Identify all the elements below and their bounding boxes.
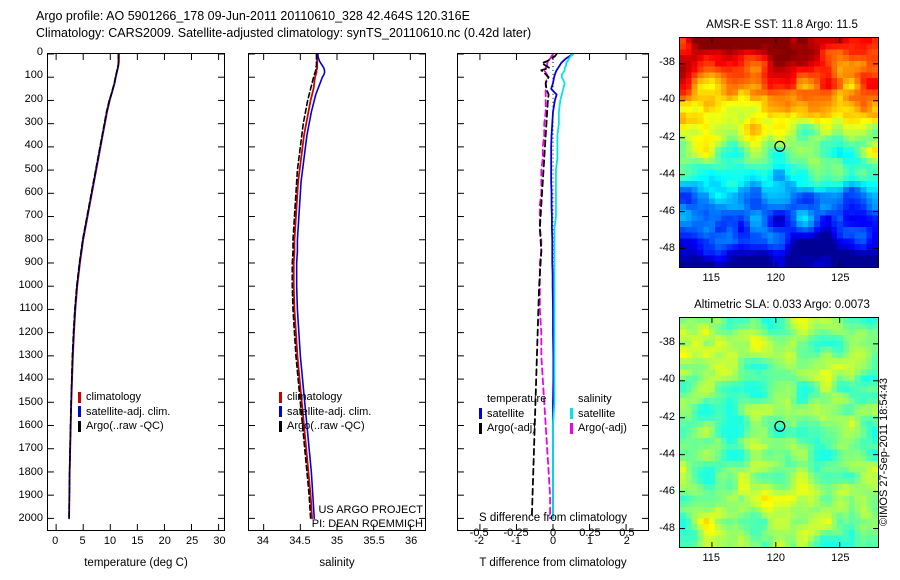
sla-map[interactable] xyxy=(679,317,879,548)
depth-tick-label: 600 xyxy=(0,187,43,198)
project-credit-line-1: US ARGO PROJECT xyxy=(280,503,423,517)
figure-title-line-2: Climatology: CARS2009. Satellite-adjuste… xyxy=(36,26,531,40)
legend-item: satellite xyxy=(479,407,546,422)
project-credit-line-2: PI: DEAN ROEMMICH xyxy=(280,517,423,531)
difference-curves xyxy=(532,54,574,530)
depth-tick-label: 1900 xyxy=(0,490,43,501)
depth-tick-label: 1800 xyxy=(0,467,43,478)
legend-label: climatology xyxy=(86,390,141,405)
legend-swatch-satellite xyxy=(479,408,482,419)
legend-label: satellite xyxy=(578,407,615,422)
difference-profile-plot xyxy=(458,54,648,530)
temperature-axis-title: temperature (deg C) xyxy=(84,557,188,569)
xtick-label: 34 xyxy=(257,536,269,547)
legend-label: Argo(..raw -QC) xyxy=(86,419,164,434)
depth-tick-label: 1600 xyxy=(0,420,43,431)
salinity-curves xyxy=(292,54,324,518)
depth-tick-label: 1000 xyxy=(0,280,43,291)
lat-tick-label: -42 xyxy=(645,132,675,143)
legend-swatch-argo xyxy=(479,423,482,434)
legend-swatch-argo xyxy=(279,421,282,432)
lat-tick-label: -38 xyxy=(645,57,675,68)
legend-swatch-salinity-argo xyxy=(570,423,573,434)
lon-tick-label: 125 xyxy=(831,553,849,564)
sla-map-field xyxy=(680,318,878,547)
temperature-profile-plot xyxy=(48,54,224,530)
xtick-label: -0.5 xyxy=(470,528,489,539)
lat-tick-label: -48 xyxy=(645,523,675,534)
xtick-label: 34.5 xyxy=(289,536,310,547)
xtick-label: 10 xyxy=(104,536,116,547)
depth-tick-label: 0 xyxy=(0,47,43,58)
legend-item: satellite-adj. clim. xyxy=(279,405,371,420)
legend-label: Argo(-adj) xyxy=(578,421,627,436)
xtick-label: 0 xyxy=(550,528,556,539)
difference-axis-title-bottom: T difference from climatology xyxy=(479,557,626,569)
xtick-label: 25 xyxy=(186,536,198,547)
salinity-axis-ticks xyxy=(249,54,425,530)
xtick-label: -0.25 xyxy=(504,528,529,539)
depth-tick-label: 1500 xyxy=(0,397,43,408)
depth-tick-label: 2000 xyxy=(0,513,43,524)
sst-map[interactable] xyxy=(679,37,879,268)
difference-legend-salinity: salinity satellite Argo(-adj) xyxy=(570,392,627,436)
legend-swatch-climatology xyxy=(279,392,282,403)
lat-tick-label: -46 xyxy=(645,206,675,217)
depth-tick-label: 800 xyxy=(0,234,43,245)
legend-label: climatology xyxy=(287,390,342,405)
lon-tick-label: 120 xyxy=(767,553,785,564)
depth-tick-label: 1100 xyxy=(0,303,43,314)
depth-tick-label: 300 xyxy=(0,117,43,128)
legend-label: Argo(..raw -QC) xyxy=(287,419,365,434)
difference-axis-title-top: S difference from climatology xyxy=(479,512,627,524)
depth-tick-label: 900 xyxy=(0,257,43,268)
lon-tick-label: 115 xyxy=(702,553,720,564)
difference-legend-temperature: temperature satellite Argo(-adj) xyxy=(479,392,546,436)
depth-tick-label: 200 xyxy=(0,94,43,105)
legend-item: climatology xyxy=(279,390,371,405)
lat-tick-label: -48 xyxy=(645,243,675,254)
temperature-axis-ticks xyxy=(48,54,224,530)
depth-tick-label: 700 xyxy=(0,210,43,221)
depth-tick-label: 100 xyxy=(0,70,43,81)
difference-profile-panel[interactable] xyxy=(457,53,649,531)
depth-tick-label: 500 xyxy=(0,164,43,175)
depth-tick-label: 1200 xyxy=(0,327,43,338)
salinity-legend: climatology satellite-adj. clim. Argo(..… xyxy=(279,390,371,434)
lat-tick-label: -38 xyxy=(645,337,675,348)
lon-tick-label: 125 xyxy=(831,273,849,284)
lat-tick-label: -40 xyxy=(645,374,675,385)
depth-tick-label: 1400 xyxy=(0,373,43,384)
legend-item: climatology xyxy=(78,390,170,405)
lat-tick-label: -46 xyxy=(645,486,675,497)
sst-map-title: AMSR-E SST: 11.8 Argo: 11.5 xyxy=(706,19,858,31)
legend-item: Argo(..raw -QC) xyxy=(279,419,371,434)
legend-label: Argo(-adj) xyxy=(487,421,536,436)
xtick-label: 20 xyxy=(159,536,171,547)
legend-item: Argo(-adj) xyxy=(570,421,627,436)
sla-heatmap-cells xyxy=(680,318,878,547)
legend-item: Argo(..raw -QC) xyxy=(78,419,170,434)
xtick-label: 5 xyxy=(80,536,86,547)
xtick-label: 15 xyxy=(131,536,143,547)
xtick-label: 0.5 xyxy=(619,528,634,539)
legend-swatch-salinity-satellite xyxy=(570,408,573,419)
legend-label: satellite-adj. clim. xyxy=(287,405,371,420)
depth-tick-label: 1300 xyxy=(0,350,43,361)
lat-tick-label: -40 xyxy=(645,94,675,105)
xtick-label: 0.25 xyxy=(579,528,600,539)
xtick-label: 36 xyxy=(405,536,417,547)
legend-swatch-climatology xyxy=(78,392,81,403)
legend-swatch-argo xyxy=(78,421,81,432)
project-credit: US ARGO PROJECT PI: DEAN ROEMMICH xyxy=(280,503,423,531)
salinity-axis-title: salinity xyxy=(319,557,354,569)
sst-map-field xyxy=(680,38,878,267)
lon-tick-label: 115 xyxy=(702,273,720,284)
legend-item: satellite-adj. clim. xyxy=(78,405,170,420)
temperature-profile-panel[interactable] xyxy=(47,53,225,531)
depth-tick-label: 400 xyxy=(0,140,43,151)
xtick-label: 0 xyxy=(52,536,58,547)
legend-item: Argo(-adj) xyxy=(479,421,546,436)
lat-tick-label: -44 xyxy=(645,449,675,460)
sla-map-title: Altimetric SLA: 0.033 Argo: 0.0073 xyxy=(694,299,870,311)
sst-heatmap-cells xyxy=(680,38,878,267)
legend-label: satellite-adj. clim. xyxy=(86,405,170,420)
xtick-label: 30 xyxy=(213,536,225,547)
figure-title-line-1: Argo profile: AO 5901266_178 09-Jun-2011… xyxy=(36,9,470,23)
copyright-text: ©IMOS 27-Sep-2011 18:54:43 xyxy=(878,378,890,526)
legend-label: satellite xyxy=(487,407,524,422)
salinity-profile-plot xyxy=(249,54,425,530)
xtick-label: 35.5 xyxy=(363,536,384,547)
legend-swatch-satellite xyxy=(78,406,81,417)
temperature-legend: climatology satellite-adj. clim. Argo(..… xyxy=(78,390,170,434)
legend-heading-temperature: temperature xyxy=(479,392,546,407)
depth-tick-label: 1700 xyxy=(0,443,43,454)
salinity-profile-panel[interactable] xyxy=(248,53,426,531)
xtick-label: 35 xyxy=(331,536,343,547)
lat-tick-label: -42 xyxy=(645,412,675,423)
legend-heading-salinity: salinity xyxy=(570,392,627,407)
legend-swatch-satellite xyxy=(279,406,282,417)
argo-profile-figure: Argo profile: AO 5901266_178 09-Jun-2011… xyxy=(0,0,900,580)
legend-item: satellite xyxy=(570,407,627,422)
lon-tick-label: 120 xyxy=(767,273,785,284)
temperature-curves xyxy=(69,54,119,518)
lat-tick-label: -44 xyxy=(645,169,675,180)
